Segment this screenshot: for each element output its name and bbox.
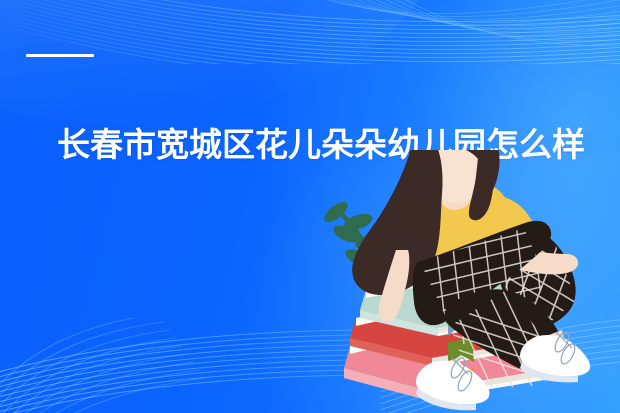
title-underline-rule	[26, 54, 94, 57]
banner-card: 长春市宽城区花儿朵朵幼儿园怎么样	[0, 0, 620, 413]
illustration-svg	[300, 150, 620, 413]
illustration-woman-sitting-on-books	[300, 150, 620, 413]
